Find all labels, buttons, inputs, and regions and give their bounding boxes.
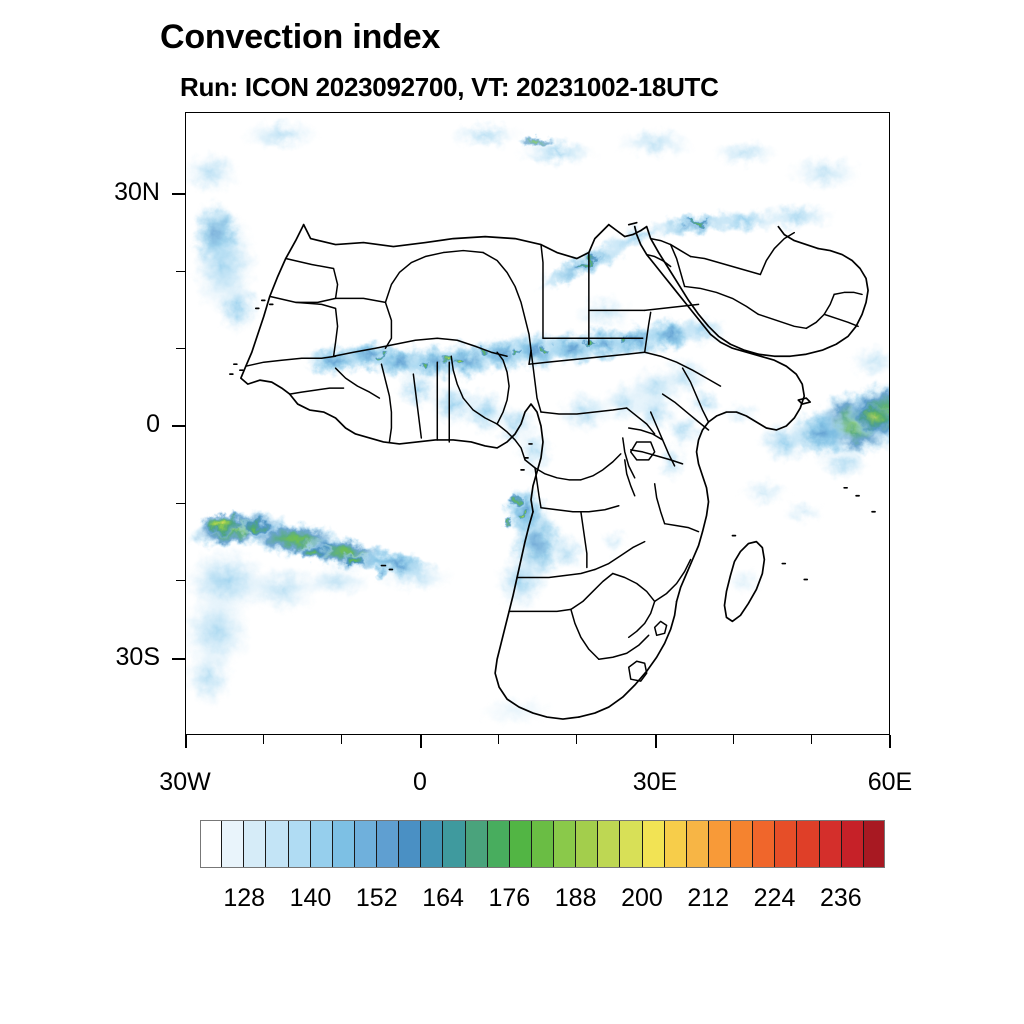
colorbar-cell <box>355 820 377 868</box>
colorbar-cell <box>842 820 864 868</box>
ytick-major-30s <box>172 658 185 660</box>
map-coastlines <box>230 223 875 719</box>
ytick-minor-10s <box>176 503 185 504</box>
colorbar-cell <box>510 820 532 868</box>
xtick-major-30w <box>185 735 187 748</box>
ytick-minor-10n <box>176 348 185 349</box>
xtick-minor-20e <box>576 735 577 744</box>
colorbar-cell <box>598 820 620 868</box>
colorbar-cell <box>620 820 642 868</box>
ytick-major-30n <box>172 193 185 195</box>
map-plot-area <box>185 112 890 735</box>
ytick-label-30n: 30N <box>0 178 160 207</box>
xtick-label-30w: 30W <box>125 768 245 797</box>
colorbar-tick-label: 236 <box>796 884 886 913</box>
colorbar-cell <box>244 820 266 868</box>
colorbar-cell <box>377 820 399 868</box>
xtick-minor-10w <box>341 735 342 744</box>
colorbar-cell <box>709 820 731 868</box>
xtick-major-30e <box>655 735 657 748</box>
ytick-label-30s: 30S <box>0 643 160 672</box>
chart-page: Convection index Run: ICON 2023092700, V… <box>0 0 1024 1024</box>
colorbar-cell <box>864 820 885 868</box>
colorbar-cell <box>200 820 222 868</box>
page-subtitle: Run: ICON 2023092700, VT: 20231002-18UTC <box>180 72 719 103</box>
xtick-label-30e: 30E <box>595 768 715 797</box>
colorbar-cell <box>266 820 288 868</box>
colorbar-cell <box>643 820 665 868</box>
xtick-minor-50e <box>811 735 812 744</box>
ytick-minor-20s <box>176 580 185 581</box>
xtick-major-60e <box>889 735 891 748</box>
xtick-major-0 <box>420 735 422 748</box>
colorbar-cell <box>333 820 355 868</box>
colorbar-cell <box>554 820 576 868</box>
xtick-label-0: 0 <box>360 768 480 797</box>
colorbar-cell <box>488 820 510 868</box>
colorbar-cell <box>443 820 465 868</box>
colorbar-cell <box>289 820 311 868</box>
xtick-label-60e: 60E <box>830 768 950 797</box>
colorbar-cell <box>311 820 333 868</box>
colorbar-cell <box>687 820 709 868</box>
colorbar-cell <box>466 820 488 868</box>
colorbar-cell <box>532 820 554 868</box>
colorbar-cell <box>222 820 244 868</box>
xtick-minor-40e <box>733 735 734 744</box>
colorbar-cell <box>775 820 797 868</box>
colorbar-cell <box>731 820 753 868</box>
ytick-label-0: 0 <box>0 410 160 439</box>
xtick-minor-10e <box>498 735 499 744</box>
ytick-minor-20n <box>176 271 185 272</box>
colorbar-cell <box>797 820 819 868</box>
colorbar-cell <box>665 820 687 868</box>
convection-field <box>186 119 889 727</box>
xtick-minor-20w <box>263 735 264 744</box>
colorbar <box>200 820 885 868</box>
page-title: Convection index <box>160 18 440 57</box>
ytick-major-0 <box>172 425 185 427</box>
colorbar-cell <box>399 820 421 868</box>
colorbar-cell <box>421 820 443 868</box>
colorbar-cell <box>753 820 775 868</box>
colorbar-cell <box>820 820 842 868</box>
map-svg <box>186 113 889 734</box>
colorbar-cell <box>576 820 598 868</box>
